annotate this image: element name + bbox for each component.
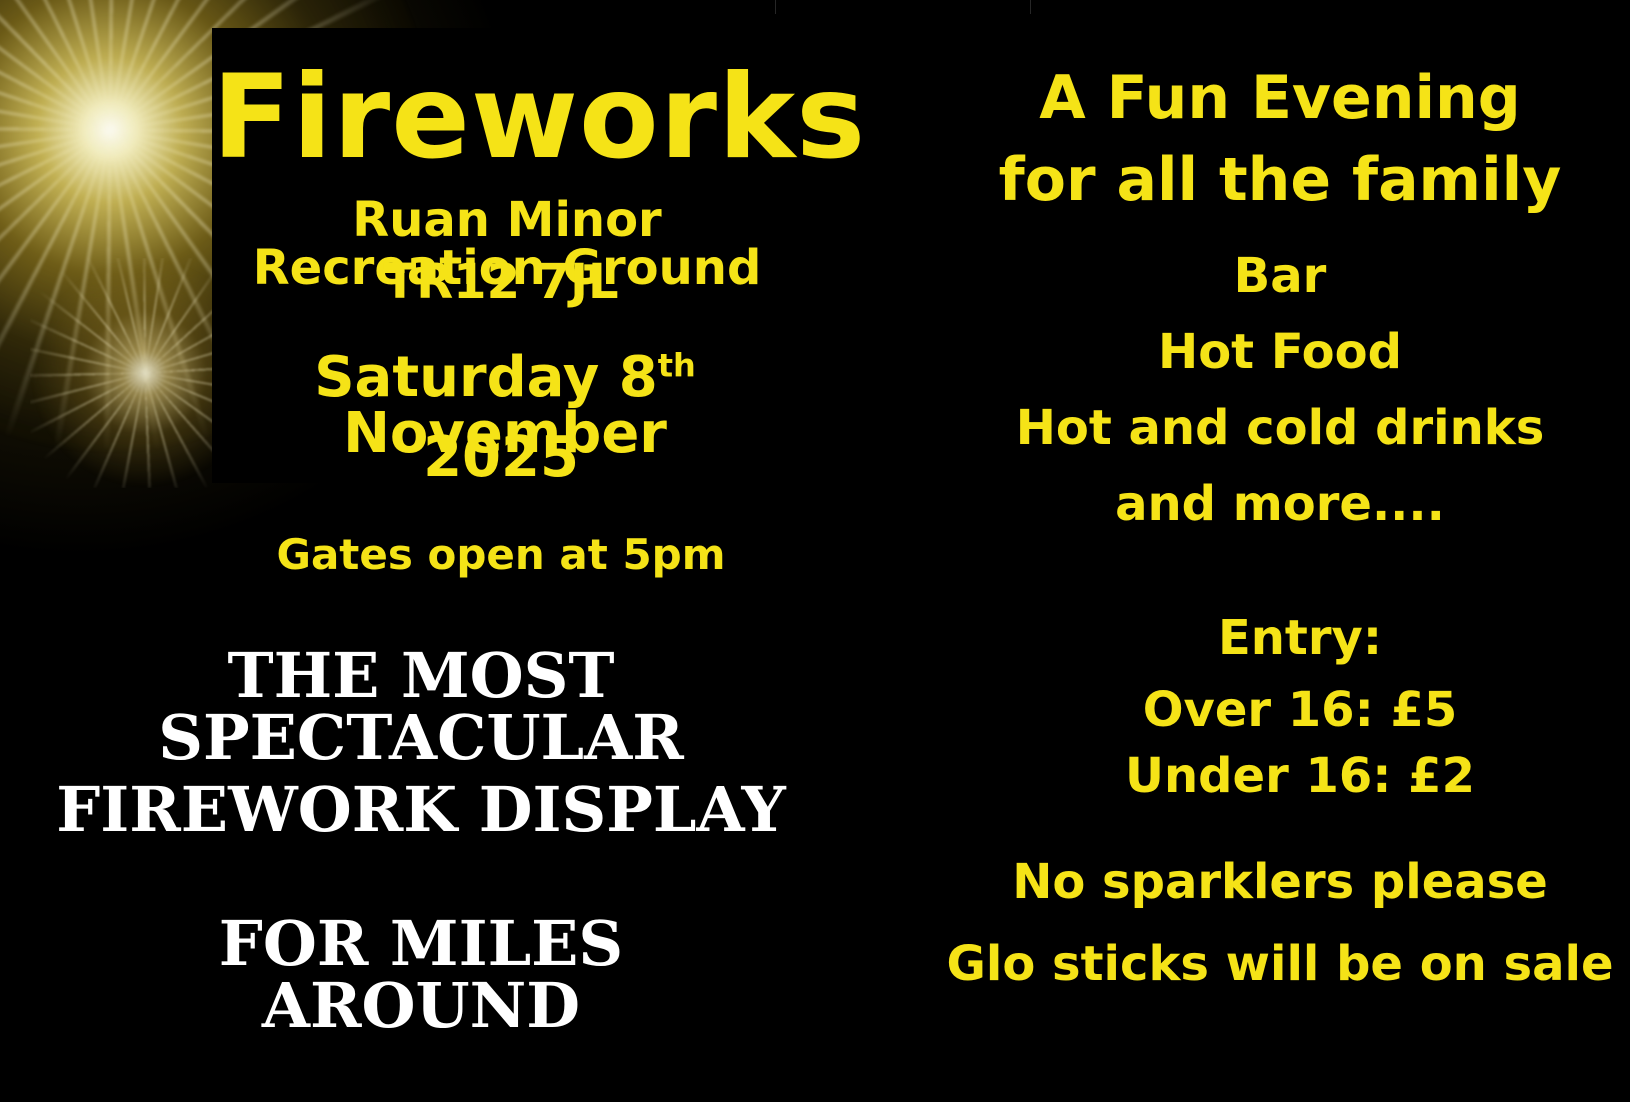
composite-seam-right: [1030, 0, 1031, 14]
event-year: 2025: [212, 430, 790, 486]
amenity-item: and more....: [930, 480, 1630, 528]
tagline-line-3: FOR MILES AROUND: [50, 913, 792, 1037]
event-date-ordinal: th: [658, 346, 696, 384]
amenity-item: Hot Food: [930, 328, 1630, 376]
entry-heading: Entry:: [1010, 614, 1590, 662]
amenity-item: Bar: [930, 252, 1630, 300]
headline-line-1: A Fun Evening: [930, 68, 1630, 128]
fireworks-poster: Fireworks Ruan Minor Recreation Ground T…: [0, 0, 1630, 1102]
composite-seam-left: [775, 0, 776, 14]
notice-glo-sticks: Glo sticks will be on sale: [930, 940, 1630, 988]
notice-no-sparklers: No sparklers please: [930, 858, 1630, 906]
entry-price-under-16: Under 16: £2: [1010, 752, 1590, 800]
entry-price-over-16: Over 16: £5: [1010, 686, 1590, 734]
venue-postcode: TR12 7JL: [212, 258, 790, 306]
amenity-item: Hot and cold drinks: [930, 404, 1630, 452]
tagline-line-1: THE MOST SPECTACULAR: [50, 645, 792, 769]
gates-open-time: Gates open at 5pm: [212, 534, 790, 576]
poster-title: Fireworks: [212, 60, 790, 176]
headline-line-2: for all the family: [930, 150, 1630, 210]
tagline-line-2: FIREWORK DISPLAY: [50, 779, 792, 841]
